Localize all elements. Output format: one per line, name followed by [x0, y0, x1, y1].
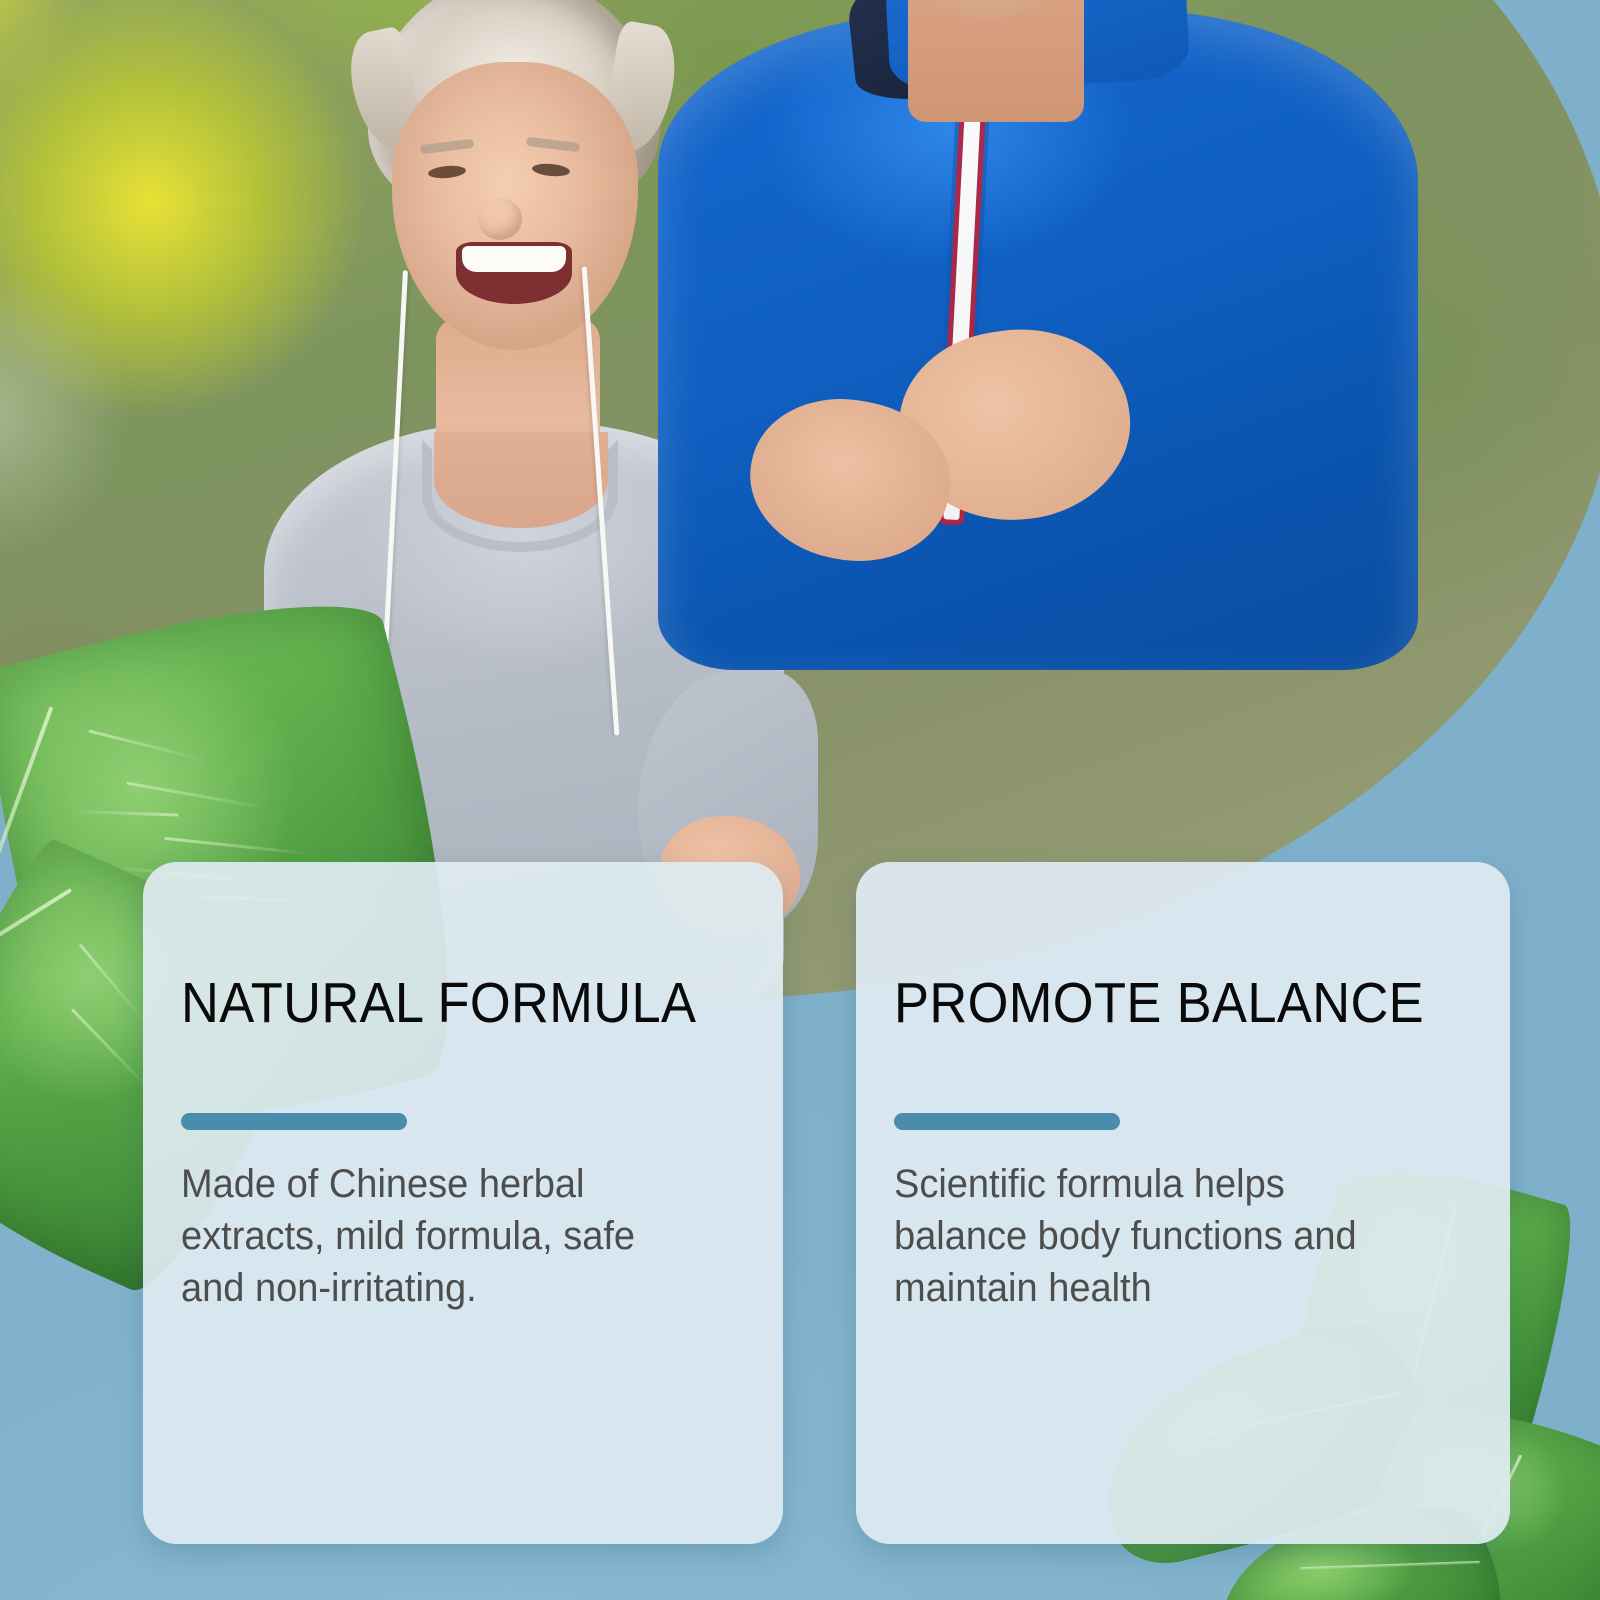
woman-mouth	[456, 242, 572, 304]
woman-nose	[478, 198, 522, 240]
card-body-promote-balance: Scientific formula helps balance body fu…	[894, 1158, 1388, 1314]
card-body-natural-formula: Made of Chinese herbal extracts, mild fo…	[181, 1158, 662, 1314]
feature-card-natural-formula[interactable]: NATURAL FORMULA Made of Chinese herbal e…	[143, 862, 783, 1544]
card-content-balance: PROMOTE BALANCE Scientific formula helps…	[856, 862, 1510, 1544]
man-jogger-figure	[790, 0, 1430, 680]
woman-collar	[422, 440, 618, 552]
card-title-promote-balance: PROMOTE BALANCE	[894, 970, 1424, 1036]
feature-card-promote-balance[interactable]: PROMOTE BALANCE Scientific formula helps…	[856, 862, 1510, 1544]
card-accent-rule-natural	[181, 1113, 407, 1130]
card-content-natural: NATURAL FORMULA Made of Chinese herbal e…	[143, 862, 783, 1544]
card-title-natural-formula: NATURAL FORMULA	[181, 970, 696, 1036]
infographic-stage: NATURAL FORMULA Made of Chinese herbal e…	[0, 0, 1600, 1600]
card-accent-rule-balance	[894, 1113, 1120, 1130]
